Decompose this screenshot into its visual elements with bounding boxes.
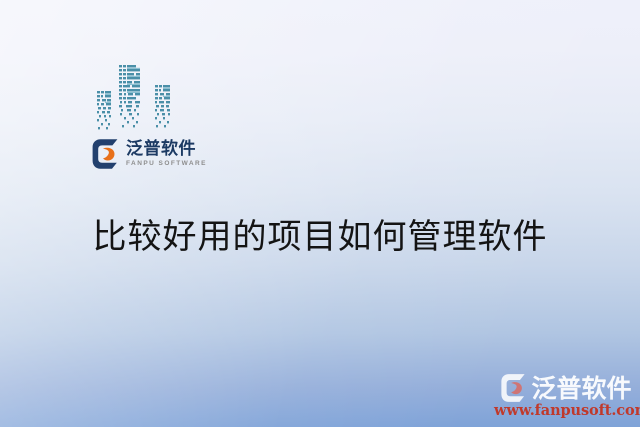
pixel-skyline-graphic xyxy=(93,63,189,133)
watermark-url: www.fanpusoft.com xyxy=(494,403,636,419)
fanpu-logo-mark-icon xyxy=(90,138,120,170)
watermark-brand-name: 泛普软件 xyxy=(531,376,631,401)
watermark: 泛普软件 www.fanpusoft.com xyxy=(494,373,636,419)
brand-logo: 泛普软件 FANPU SOFTWARE xyxy=(90,138,207,170)
fanpu-watermark-mark-icon xyxy=(498,373,528,403)
brand-name-en: FANPU SOFTWARE xyxy=(126,161,207,168)
brand-name-cn: 泛普软件 xyxy=(126,141,207,158)
slide-canvas: 泛普软件 FANPU SOFTWARE 比较好用的项目如何管理软件 泛普软件 w… xyxy=(0,0,640,427)
slide-headline: 比较好用的项目如何管理软件 xyxy=(0,213,640,261)
watermark-logo-row: 泛普软件 xyxy=(494,373,636,403)
brand-wordmark: 泛普软件 FANPU SOFTWARE xyxy=(126,141,207,168)
